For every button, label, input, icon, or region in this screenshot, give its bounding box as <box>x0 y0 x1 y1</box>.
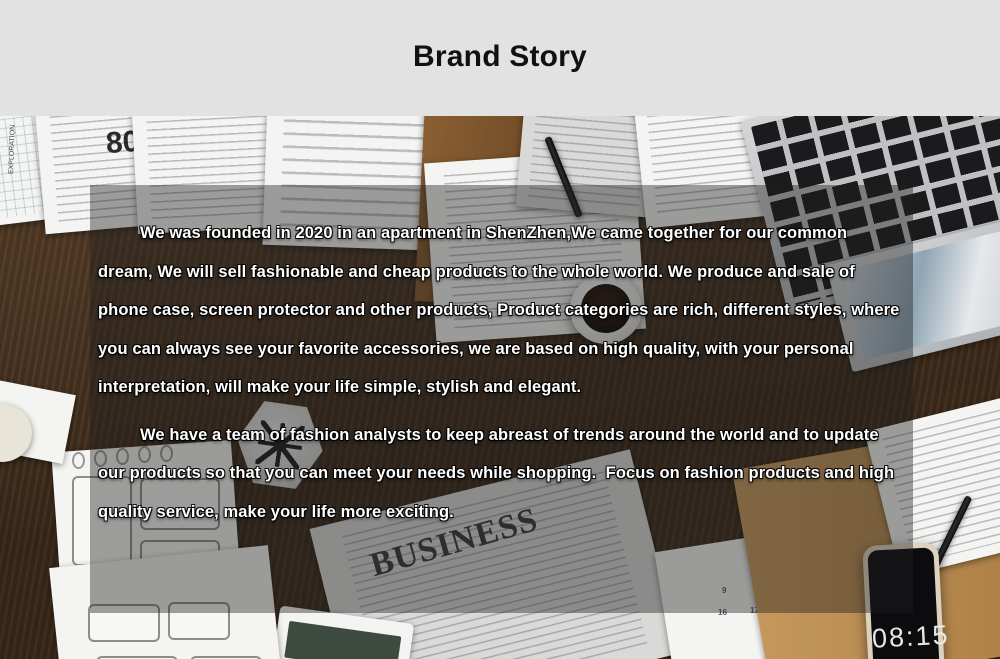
page-header: Brand Story <box>0 0 1000 116</box>
brand-story-paragraph-2: We have a team of fashion analysts to ke… <box>98 416 903 532</box>
brand-story-banner: 80 EXPLORATION <box>0 116 1000 659</box>
brand-story-page: Brand Story 80 EXPLORATION <box>0 0 1000 659</box>
brand-story-text: We was founded in 2020 in an apartment i… <box>90 185 913 613</box>
smartphone-clock: 08:15 <box>871 620 939 654</box>
page-title: Brand Story <box>0 38 1000 76</box>
brand-story-paragraph-1: We was founded in 2020 in an apartment i… <box>98 214 903 407</box>
calculator-display <box>284 620 402 659</box>
notebook-spiral-ring <box>72 452 85 469</box>
